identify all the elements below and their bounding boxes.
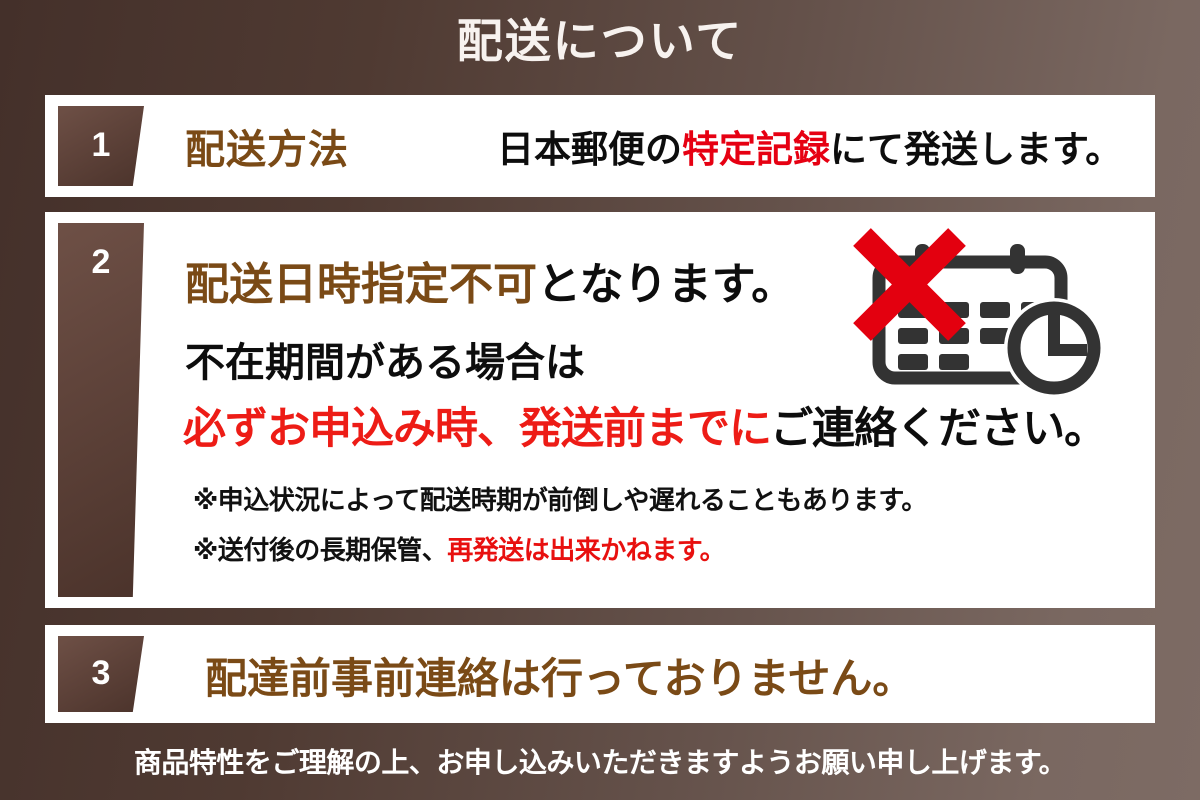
section-card-2: 2 配送日時指定不可となります。 不在期間がある場合は 必ずお申込み時、発送前ま… <box>45 212 1155 608</box>
section-2-line-2: 不在期間がある場合は <box>185 330 585 388</box>
section-number-badge-3: 3 <box>58 636 144 712</box>
section-1-body-suffix: にて発送します。 <box>830 129 1122 170</box>
section-2-line-1-suffix: となります。 <box>537 260 795 309</box>
section-2-note-1: ※申込状況によって配送時期が前倒しや遅れることもあります。 <box>193 480 927 517</box>
section-2-note-2-highlight: 再発送は出来かねます。 <box>447 535 725 565</box>
section-2-line-3: 必ずお申込み時、発送前までにご連絡ください。 <box>183 394 1106 456</box>
footer-note: 商品特性をご理解の上、お申し込みいただきますようお願い申し上げます。 <box>0 741 1200 781</box>
section-card-1: 1 配送方法 日本郵便の特定記録にて発送します。 <box>45 95 1155 197</box>
section-2-note-2-prefix: ※送付後の長期保管、 <box>193 535 447 565</box>
section-card-3: 3 配達前事前連絡は行っておりません。 <box>45 625 1155 723</box>
page-title: 配送について <box>0 16 1200 67</box>
section-1-body-highlight: 特定記録 <box>682 129 830 170</box>
shipping-info-graphic: 配送について 1 配送方法 日本郵便の特定記録にて発送します。 2 配送日時指定… <box>0 0 1200 800</box>
section-1-body: 日本郵便の特定記録にて発送します。 <box>497 119 1122 173</box>
section-2-note-2: ※送付後の長期保管、再発送は出来かねます。 <box>193 530 725 567</box>
section-2-line-1: 配送日時指定不可となります。 <box>185 248 795 312</box>
section-number-badge-1: 1 <box>58 106 144 186</box>
section-1-body-prefix: 日本郵便の <box>497 129 682 170</box>
section-2-line-3-suffix: ご連絡ください。 <box>770 405 1106 453</box>
section-3-heading: 配達前事前連絡は行っておりません。 <box>205 645 914 706</box>
section-2-line-3-highlight: 必ずお申込み時、発送前までに <box>183 405 770 453</box>
calendar-clock-prohibited-icon <box>840 224 1140 399</box>
section-1-heading: 配送方法 <box>185 117 349 175</box>
section-2-line-1-highlight: 配送日時指定不可 <box>185 260 537 309</box>
section-number-badge-2: 2 <box>58 223 144 597</box>
